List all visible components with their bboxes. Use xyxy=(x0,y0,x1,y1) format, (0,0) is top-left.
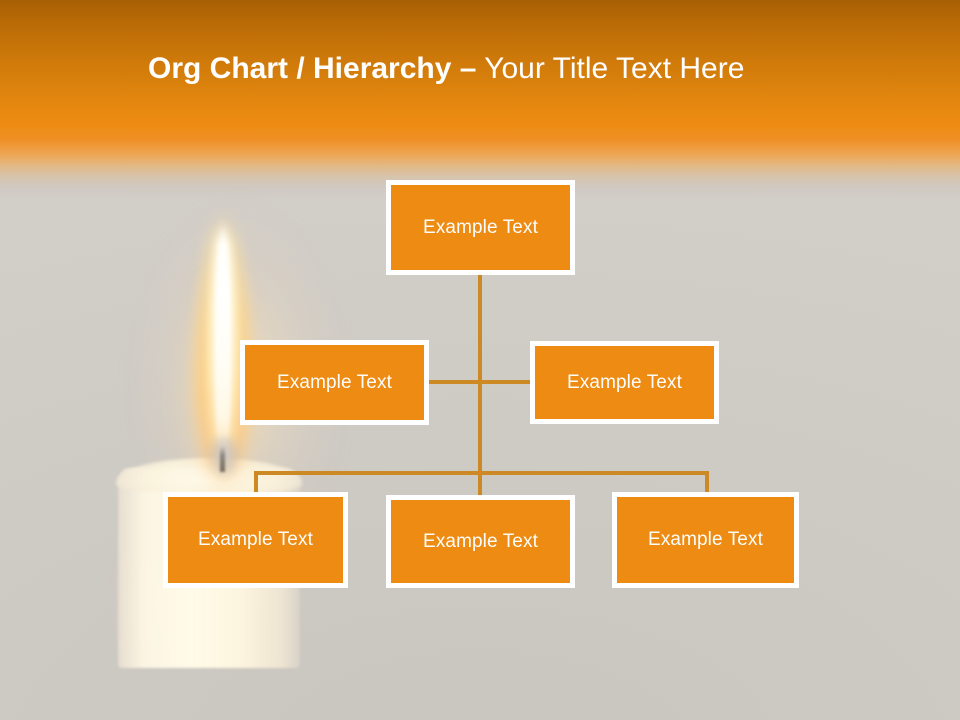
org-node-label: Example Text xyxy=(648,529,763,551)
org-node-root[interactable]: Example Text xyxy=(386,180,575,275)
org-node-leaf-center[interactable]: Example Text xyxy=(386,495,575,588)
candle-wick xyxy=(220,446,225,472)
org-node-label: Example Text xyxy=(198,529,313,551)
connector-root-spine xyxy=(478,275,482,497)
org-node-label: Example Text xyxy=(277,372,392,394)
org-node-label: Example Text xyxy=(423,531,538,553)
slide-title: Org Chart / Hierarchy – Your Title Text … xyxy=(148,52,744,86)
slide-title-bold: Org Chart / Hierarchy – xyxy=(148,52,476,85)
org-node-mid-right[interactable]: Example Text xyxy=(530,341,719,424)
connector-level2-left xyxy=(426,380,480,384)
slide-canvas: Org Chart / Hierarchy – Your Title Text … xyxy=(0,0,960,720)
org-node-mid-left[interactable]: Example Text xyxy=(240,340,429,425)
connector-level2-right xyxy=(480,380,532,384)
connector-level3-bus xyxy=(254,471,709,475)
org-node-label: Example Text xyxy=(567,372,682,394)
slide-title-regular: Your Title Text Here xyxy=(476,52,744,85)
org-node-leaf-right[interactable]: Example Text xyxy=(612,492,799,588)
org-node-label: Example Text xyxy=(423,217,538,239)
org-node-leaf-left[interactable]: Example Text xyxy=(163,492,348,588)
